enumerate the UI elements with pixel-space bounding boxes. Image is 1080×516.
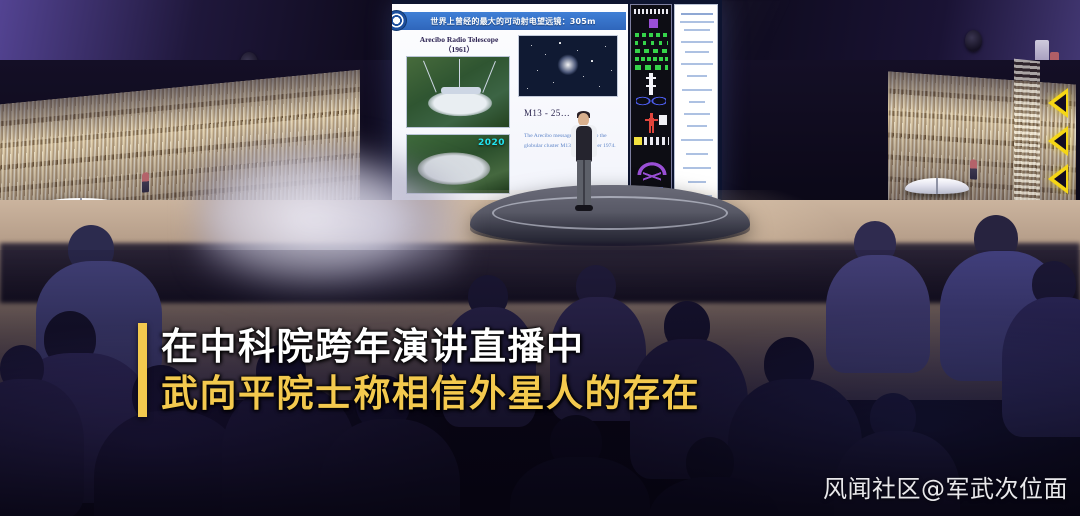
arecibo-dish-photo xyxy=(406,56,510,128)
screen-figure xyxy=(142,172,149,193)
slide-title-text: 世界上曾经的最大的可动射电望远镜：305m xyxy=(430,16,595,27)
arecibo-message-decoded-diagram xyxy=(674,4,718,210)
m13-cluster-photo xyxy=(518,35,618,97)
caption-lines: 在中科院跨年演讲直播中 武向平院士称相信外星人的存在 xyxy=(161,323,700,417)
presenter-shoes xyxy=(575,205,593,211)
open-book-sculpture xyxy=(905,178,969,194)
caption-block: 在中科院跨年演讲直播中 武向平院士称相信外星人的存在 xyxy=(138,323,700,417)
presenter-figure xyxy=(568,113,600,213)
presenter-legs xyxy=(577,160,591,206)
caption-line-1: 在中科院跨年演讲直播中 xyxy=(161,323,700,370)
presenter-vest xyxy=(576,126,592,162)
arecibo-message-pixel-art xyxy=(630,4,672,210)
right-shelf-edge xyxy=(1014,59,1040,212)
channel-watermark: 风闻社区@军武次位面 xyxy=(823,469,1068,504)
chevron-icon xyxy=(1048,88,1068,118)
caption-accent-bar xyxy=(138,323,147,417)
slide-title-banner: 世界上曾经的最大的可动射电望远镜：305m xyxy=(400,12,626,30)
chevron-icon xyxy=(1048,164,1068,194)
ceiling-speaker-icon xyxy=(965,30,982,52)
chevron-icon xyxy=(1048,126,1068,156)
year-badge: 2020 xyxy=(478,138,505,148)
screen-figure xyxy=(970,159,977,179)
video-frame: 世界上曾经的最大的可动射电望远镜：305m Arecibo Radio Tele… xyxy=(0,0,1080,516)
caption-line-2: 武向平院士称相信外星人的存在 xyxy=(161,370,700,417)
cluster-label: M13 - 25… xyxy=(524,108,570,118)
telescope-heading: Arecibo Radio Telescope（1961） xyxy=(404,35,514,55)
human-figure-pixel-icon xyxy=(645,113,658,133)
